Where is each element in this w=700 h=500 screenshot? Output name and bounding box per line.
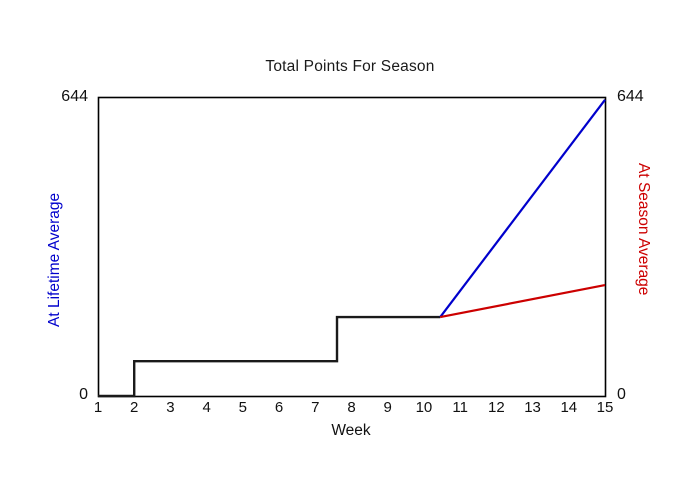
series-layer [98, 100, 605, 396]
chart-figure: Total Points For Season 644 0 644 0 At L… [0, 0, 700, 500]
plot-frame [99, 98, 606, 397]
series-line-actual-points [98, 317, 440, 396]
series-line-at-lifetime-average [440, 100, 605, 317]
plot-area [0, 0, 700, 500]
series-line-at-season-average [440, 285, 605, 317]
